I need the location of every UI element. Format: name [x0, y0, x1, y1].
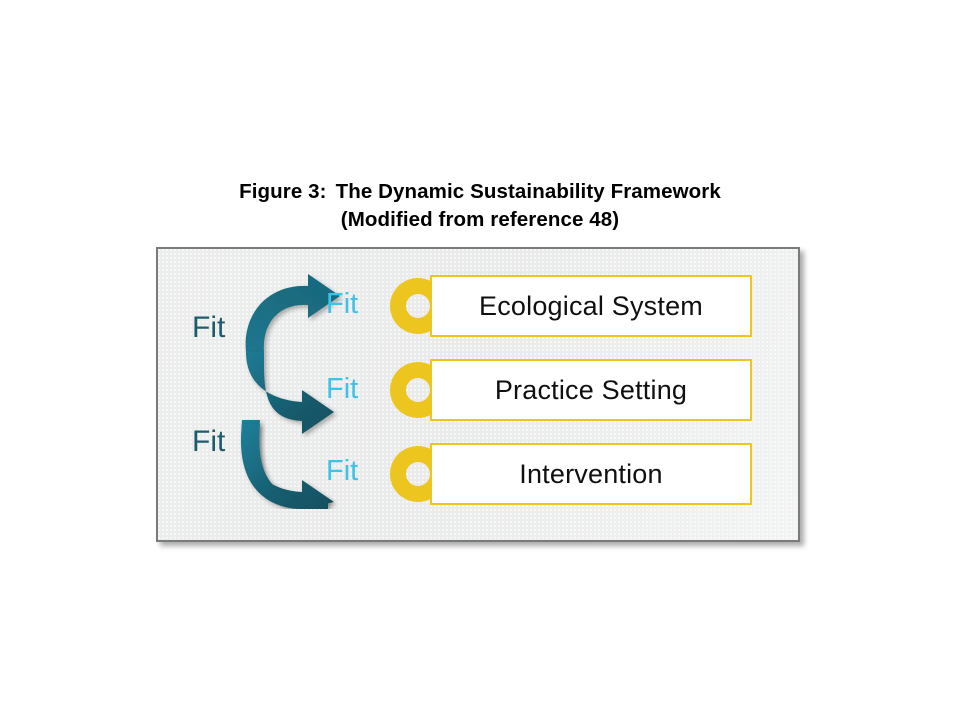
framework-box-label: Intervention: [519, 459, 663, 490]
framework-row-intervention: Intervention: [390, 443, 752, 505]
fit-label-inner-bottom: Fit: [326, 457, 358, 486]
framework-box-intervention[interactable]: Intervention: [430, 443, 752, 505]
figure-caption-line-1: Figure 3:The Dynamic Sustainability Fram…: [0, 178, 960, 206]
framework-box-practice[interactable]: Practice Setting: [430, 359, 752, 421]
figure-title: The Dynamic Sustainability Framework: [336, 180, 721, 203]
figure-number: Figure 3:: [239, 180, 326, 203]
figure-caption-line-2: (Modified from reference 48): [0, 206, 960, 234]
diagram-canvas: Fit Fit: [158, 249, 798, 540]
framework-box-label: Practice Setting: [495, 375, 687, 406]
fit-label-inner-top: Fit: [326, 290, 358, 319]
fit-label-inner-middle: Fit: [326, 375, 358, 404]
framework-box-label: Ecological System: [479, 291, 703, 322]
fit-label-outer-top: Fit: [192, 313, 225, 343]
figure-caption: Figure 3:The Dynamic Sustainability Fram…: [0, 178, 960, 234]
fit-label-outer-bottom: Fit: [192, 427, 225, 457]
framework-row-practice: Practice Setting: [390, 359, 752, 421]
framework-row-ecological: Ecological System: [390, 275, 752, 337]
diagram-frame: Fit Fit: [156, 247, 800, 542]
framework-box-ecological[interactable]: Ecological System: [430, 275, 752, 337]
